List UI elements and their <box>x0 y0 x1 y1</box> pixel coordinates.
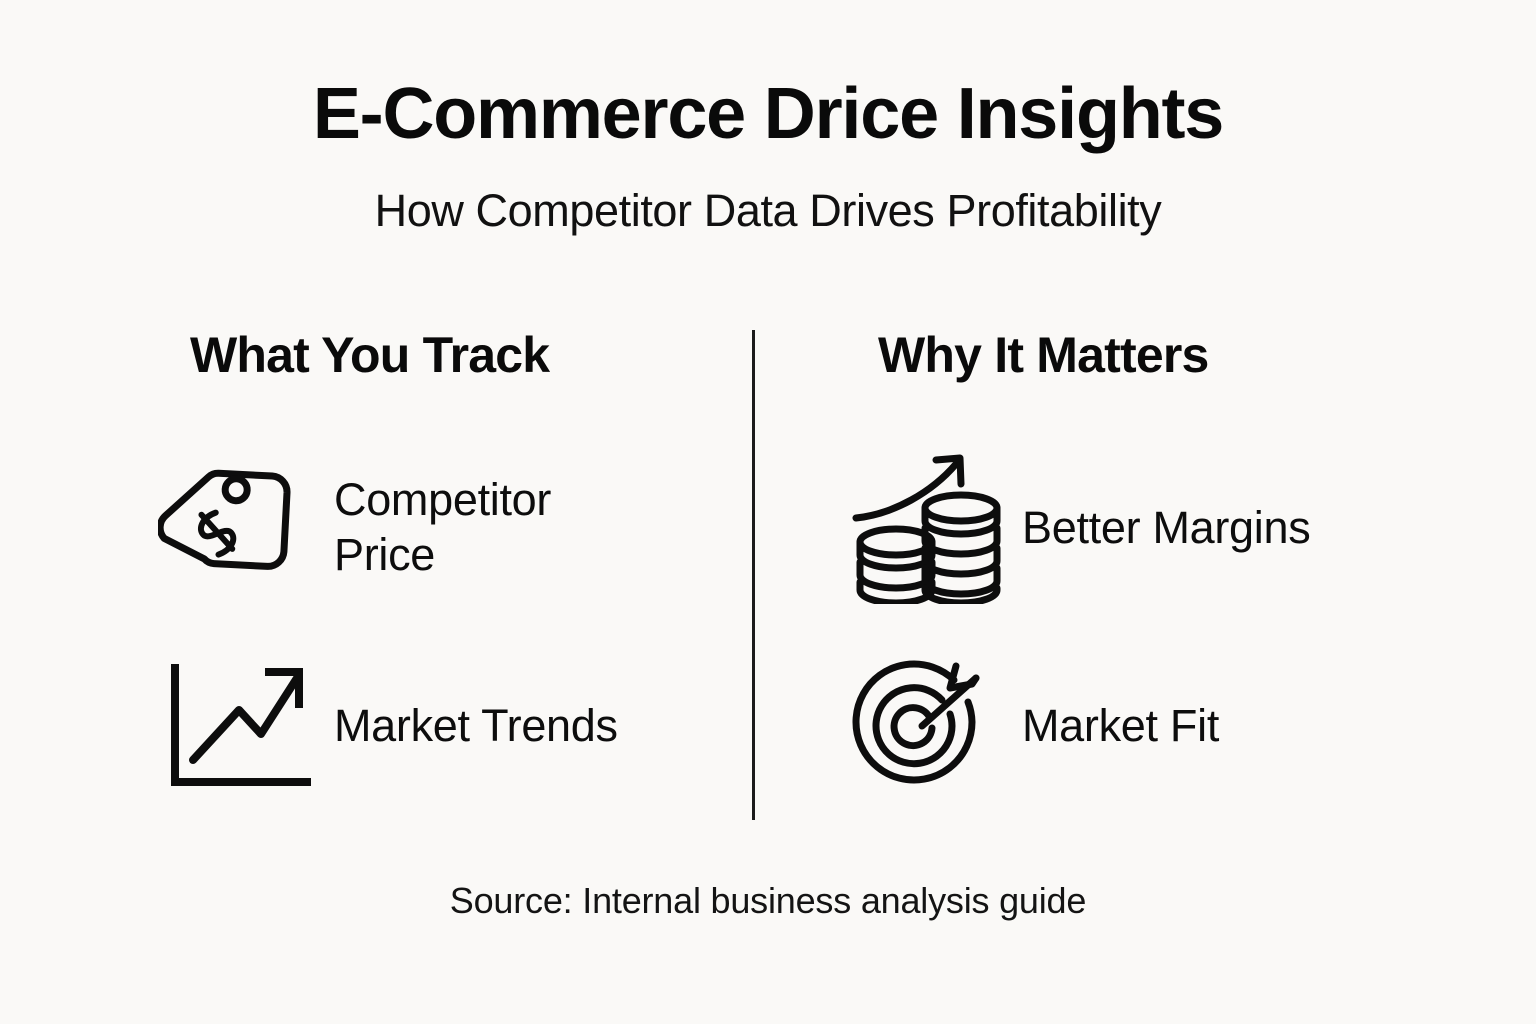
right-column-items: Better Margins Market Fit <box>840 448 1440 806</box>
column-heading-right: Why It Matters <box>840 330 1440 380</box>
line-chart-trend-icon <box>152 649 322 804</box>
vertical-divider <box>752 330 755 820</box>
list-item-label: Market Trends <box>322 699 618 754</box>
column-heading-left: What You Track <box>152 330 752 380</box>
column-why-it-matters: Why It Matters <box>840 330 1440 380</box>
page-subtitle: How Competitor Data Drives Profitability <box>0 150 1536 233</box>
header-block: E-Commerce Drice Insights How Competitor… <box>0 78 1536 233</box>
list-item: Competitor Price <box>152 448 752 608</box>
list-item: Better Margins <box>840 448 1440 608</box>
price-tag-icon <box>152 451 322 606</box>
page-title: E-Commerce Drice Insights <box>0 78 1536 150</box>
target-bullseye-arrow-icon <box>840 649 1010 804</box>
left-column-items: Competitor Price Market Trends <box>152 448 752 806</box>
column-what-you-track: What You Track <box>152 330 752 380</box>
list-item: Market Fit <box>840 646 1440 806</box>
list-item-label: Better Margins <box>1010 501 1310 556</box>
list-item-label: Competitor Price <box>322 473 551 583</box>
source-note: Source: Internal business analysis guide <box>0 880 1536 922</box>
infographic-slide: E-Commerce Drice Insights How Competitor… <box>0 0 1536 1024</box>
columns-region: What You Track <box>0 330 1536 830</box>
coin-stacks-growth-icon <box>840 451 1010 606</box>
list-item-label: Market Fit <box>1010 699 1219 754</box>
list-item: Market Trends <box>152 646 752 806</box>
